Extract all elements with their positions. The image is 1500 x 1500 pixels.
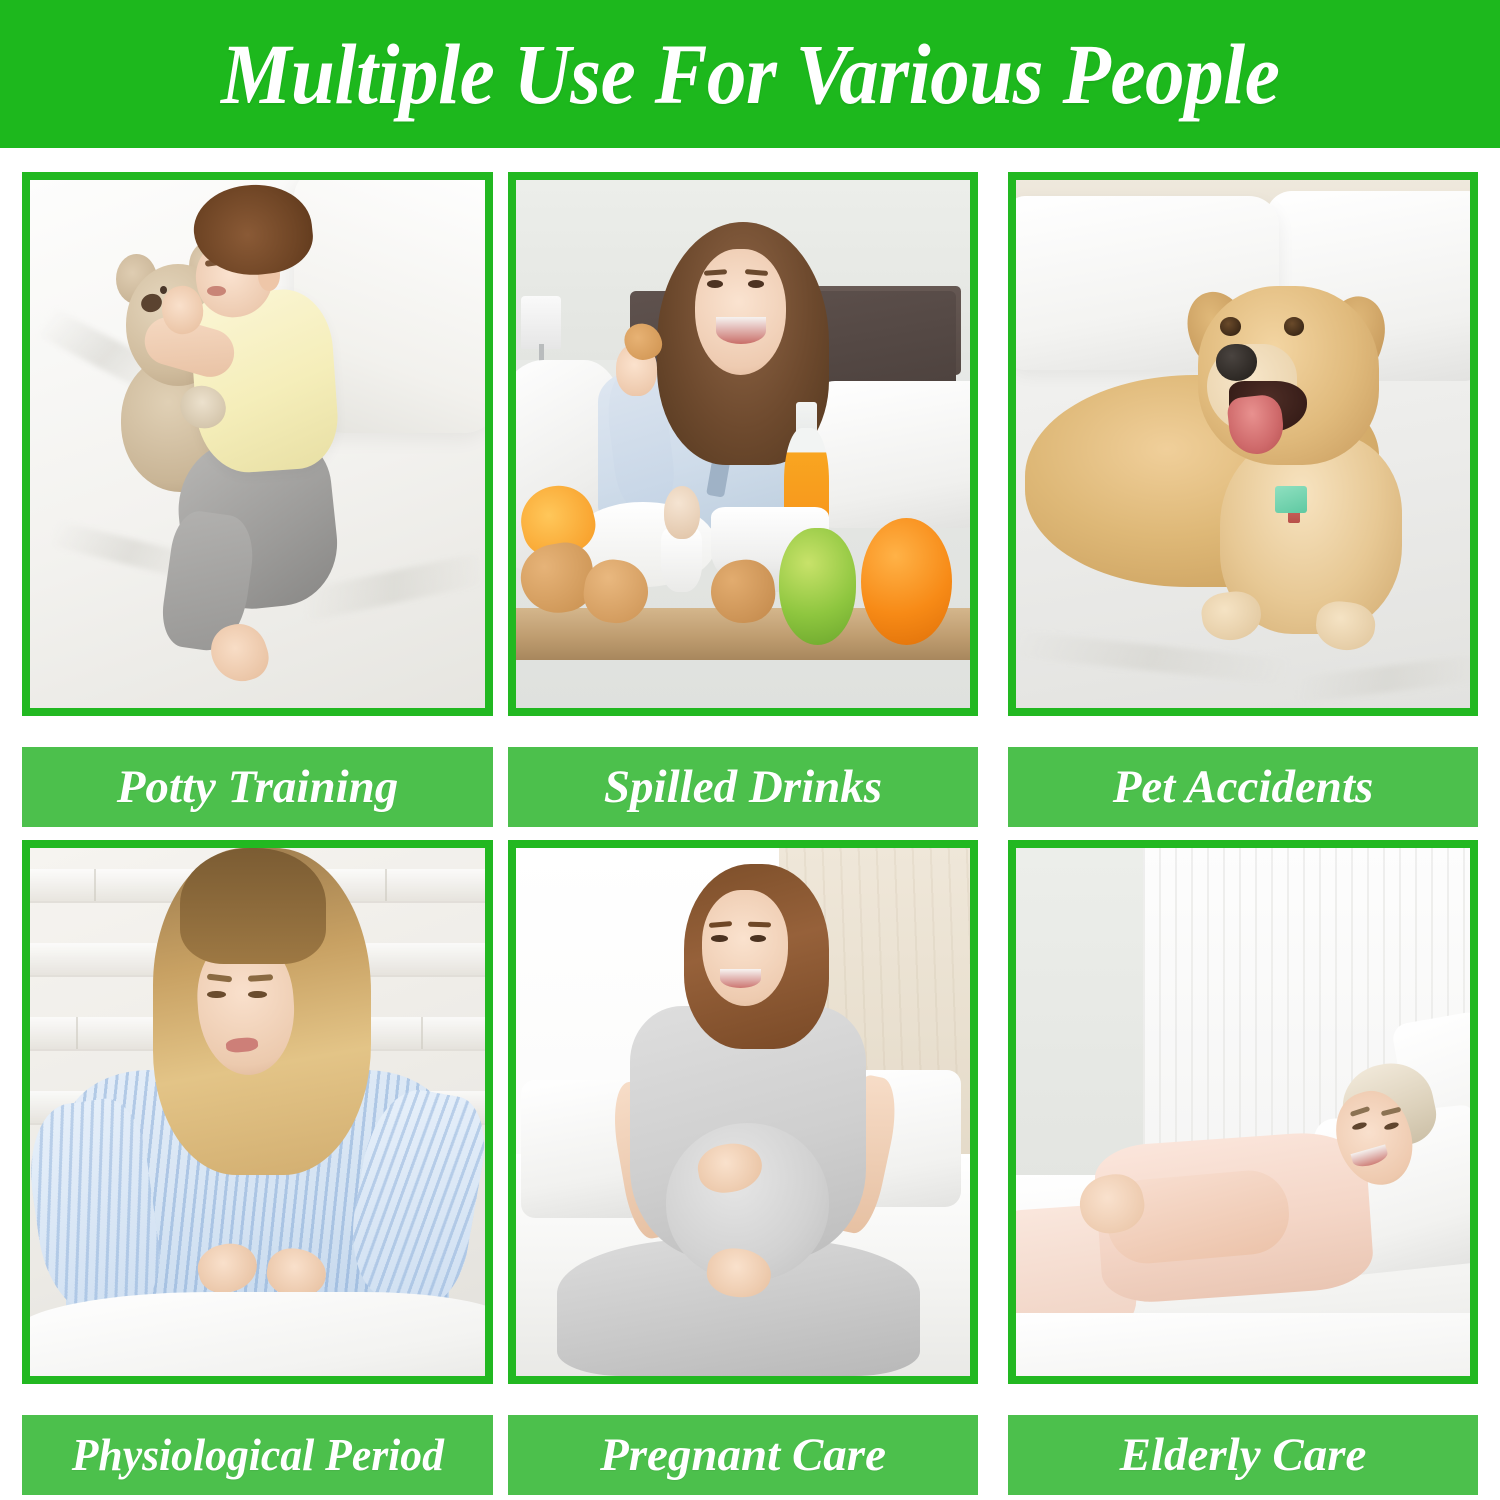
photo-physiological-period xyxy=(22,840,493,1384)
photo-potty-training xyxy=(22,172,493,716)
use-case-label: Physiological Period xyxy=(71,1433,443,1478)
use-case-label: Spilled Drinks xyxy=(604,764,882,811)
use-case-card-pet-accidents[interactable]: Pet Accidents xyxy=(1008,172,1478,827)
label-bar-physiological-period: Physiological Period xyxy=(22,1415,493,1495)
use-case-label: Pregnant Care xyxy=(600,1432,886,1479)
photo-elderly-care xyxy=(1008,840,1478,1384)
scene-dog-on-bed xyxy=(1016,180,1470,708)
label-bar-potty-training: Potty Training xyxy=(22,747,493,827)
label-bar-pregnant-care: Pregnant Care xyxy=(508,1415,978,1495)
page-title: Multiple Use For Various People xyxy=(221,31,1279,117)
label-bar-elderly-care: Elderly Care xyxy=(1008,1415,1478,1495)
use-case-label: Pet Accidents xyxy=(1113,764,1374,811)
use-case-label: Elderly Care xyxy=(1120,1432,1367,1479)
use-case-card-pregnant-care[interactable]: Pregnant Care xyxy=(508,840,978,1495)
use-case-grid: Potty Training xyxy=(0,148,1500,1500)
label-bar-spilled-drinks: Spilled Drinks xyxy=(508,747,978,827)
scene-sleeping-child-with-teddy-bear xyxy=(30,180,485,708)
scene-breakfast-in-bed xyxy=(516,180,970,708)
use-case-label: Potty Training xyxy=(117,764,399,811)
use-case-card-physiological-period[interactable]: Physiological Period xyxy=(22,840,493,1495)
scene-pregnant-woman-on-bed xyxy=(516,848,970,1376)
label-bar-pet-accidents: Pet Accidents xyxy=(1008,747,1478,827)
use-case-card-elderly-care[interactable]: Elderly Care xyxy=(1008,840,1478,1495)
use-case-card-spilled-drinks[interactable]: Spilled Drinks xyxy=(508,172,978,827)
scene-elderly-woman-in-bed xyxy=(1016,848,1470,1376)
header-banner: Multiple Use For Various People xyxy=(0,0,1500,148)
scene-woman-with-cramps xyxy=(30,848,485,1376)
photo-pregnant-care xyxy=(508,840,978,1384)
photo-pet-accidents xyxy=(1008,172,1478,716)
photo-spilled-drinks xyxy=(508,172,978,716)
use-case-card-potty-training[interactable]: Potty Training xyxy=(22,172,493,827)
